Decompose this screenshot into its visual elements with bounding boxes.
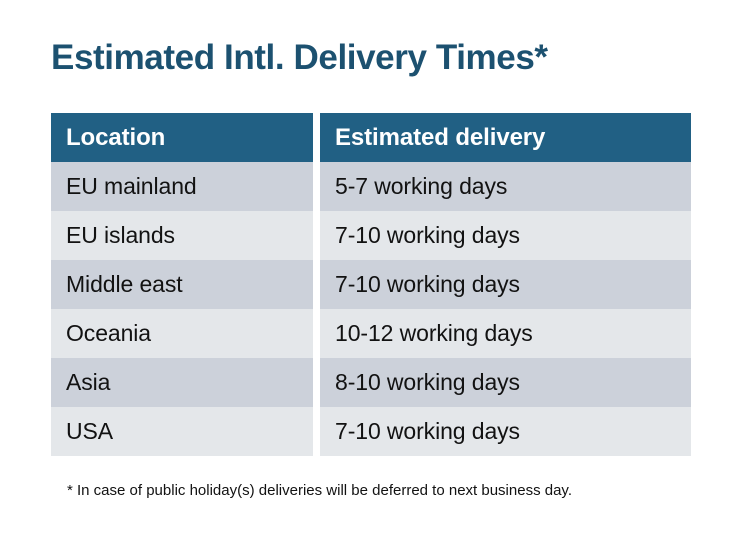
- table-row: Middle east 7-10 working days: [51, 260, 691, 309]
- table-row: Asia 8-10 working days: [51, 358, 691, 407]
- cell-location: Asia: [51, 358, 313, 407]
- table-header-row: Location Estimated delivery: [51, 113, 691, 162]
- delivery-times-table: Location Estimated delivery EU mainland …: [51, 113, 691, 456]
- table-row: EU mainland 5-7 working days: [51, 162, 691, 211]
- cell-location: USA: [51, 407, 313, 456]
- cell-location: Middle east: [51, 260, 313, 309]
- delivery-times-page: Estimated Intl. Delivery Times* Location…: [0, 0, 745, 536]
- cell-estimated-delivery: 5-7 working days: [320, 162, 691, 211]
- cell-location: EU islands: [51, 211, 313, 260]
- cell-location: EU mainland: [51, 162, 313, 211]
- column-divider: [313, 260, 320, 309]
- column-divider: [313, 211, 320, 260]
- table-row: Oceania 10-12 working days: [51, 309, 691, 358]
- cell-estimated-delivery: 8-10 working days: [320, 358, 691, 407]
- table-row: EU islands 7-10 working days: [51, 211, 691, 260]
- table-row: USA 7-10 working days: [51, 407, 691, 456]
- cell-estimated-delivery: 7-10 working days: [320, 407, 691, 456]
- column-divider: [313, 309, 320, 358]
- column-divider: [313, 162, 320, 211]
- column-header-location: Location: [51, 113, 313, 162]
- page-title: Estimated Intl. Delivery Times*: [51, 36, 711, 80]
- column-divider: [313, 407, 320, 456]
- cell-estimated-delivery: 7-10 working days: [320, 211, 691, 260]
- cell-estimated-delivery: 10-12 working days: [320, 309, 691, 358]
- cell-estimated-delivery: 7-10 working days: [320, 260, 691, 309]
- column-divider: [313, 113, 320, 162]
- column-header-estimated-delivery: Estimated delivery: [320, 113, 691, 162]
- column-divider: [313, 358, 320, 407]
- cell-location: Oceania: [51, 309, 313, 358]
- footnote-text: * In case of public holiday(s) deliverie…: [67, 480, 707, 501]
